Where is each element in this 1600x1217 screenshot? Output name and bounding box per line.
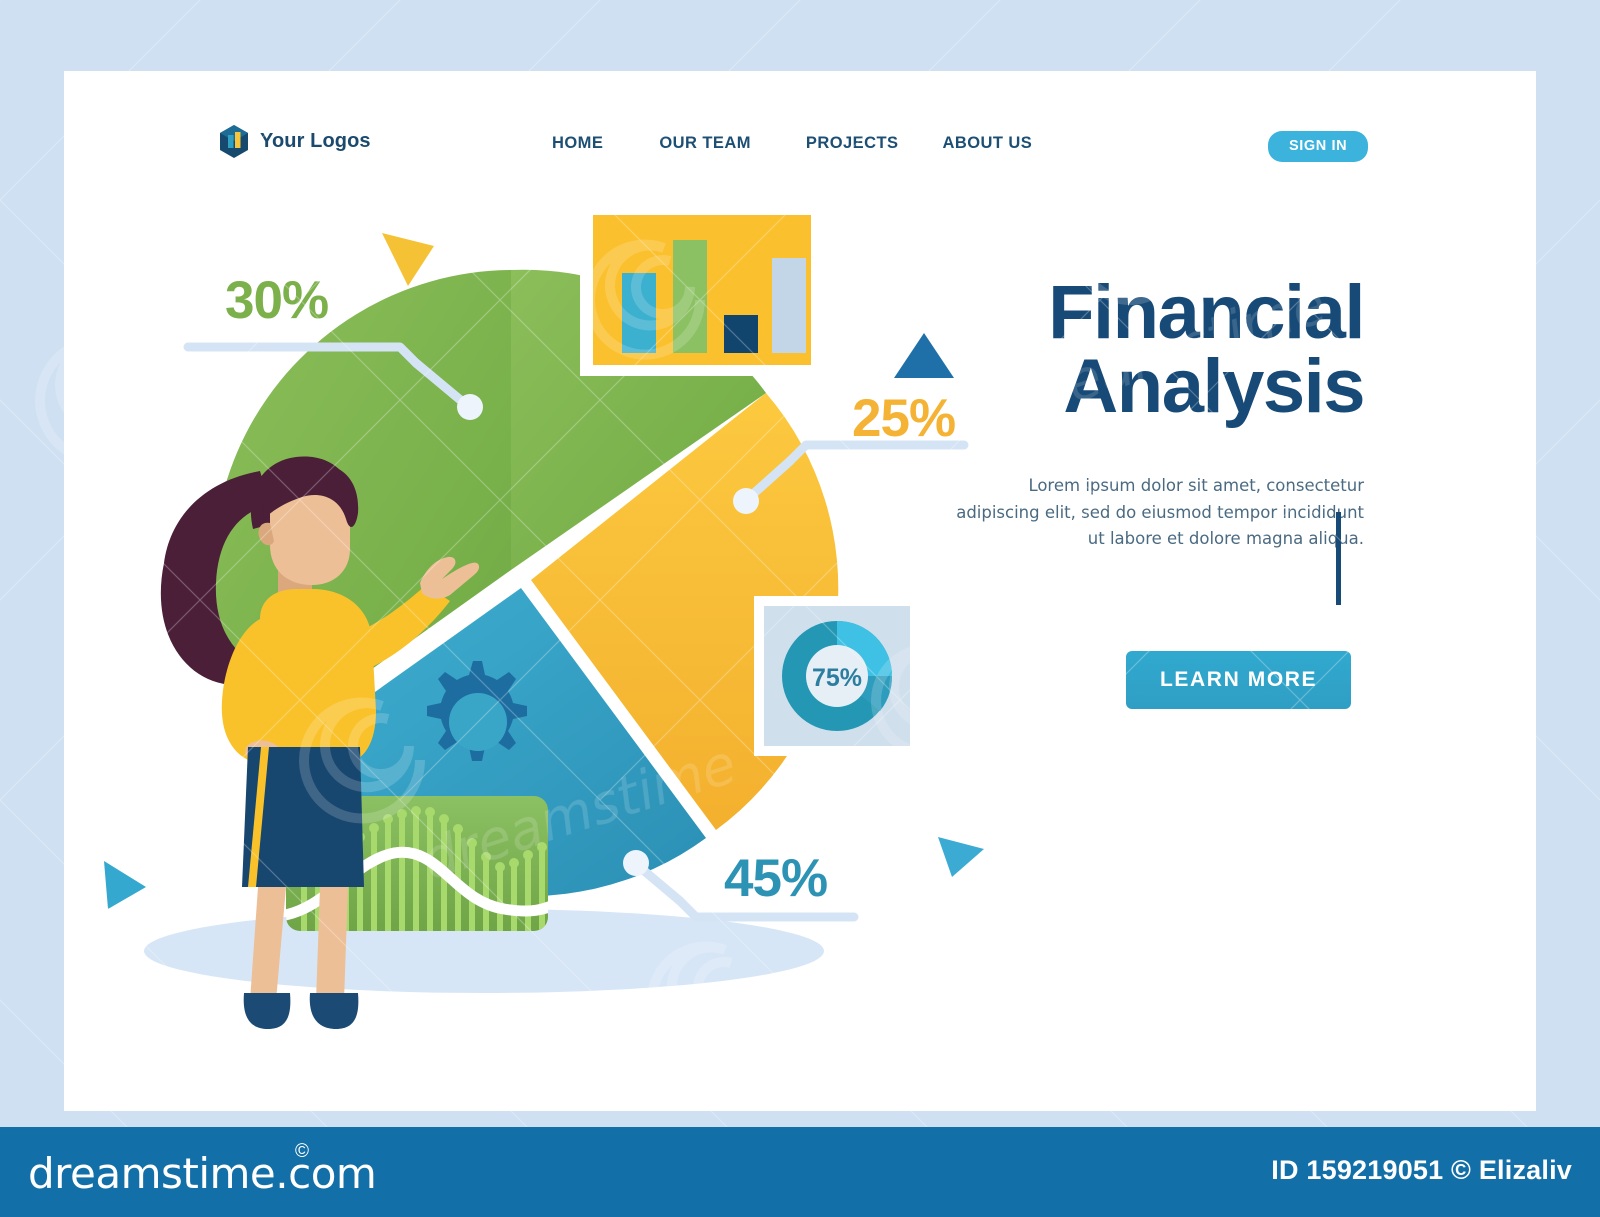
donut-center-label: 75% [812, 664, 862, 692]
leg-right [316, 887, 348, 1001]
landing-page-canvas: Your Logos HOME OUR TEAM PROJECTS ABOUT … [64, 71, 1536, 1111]
pie-label-45: 45% [724, 848, 827, 909]
callout-dot-30 [457, 394, 483, 420]
callout-dot-25 [733, 488, 759, 514]
gear-icon [427, 661, 527, 761]
bar-chart-card [580, 203, 824, 376]
dreamstime-wordmark: dreamstime.com [28, 1149, 376, 1198]
stock-credit-label: ID 159219051 © Elizaliv [1271, 1155, 1572, 1186]
teal-triangle-left-icon [104, 861, 146, 909]
hero-accent-rule [1336, 512, 1341, 605]
pie-label-25: 25% [852, 388, 955, 449]
stock-footer-bar: dreamstime.com © ID 159219051 © Elizaliv [0, 1127, 1600, 1217]
stock-photo-frame: Your Logos HOME OUR TEAM PROJECTS ABOUT … [0, 0, 1600, 1217]
illustration-artwork: 75% [64, 71, 1004, 1111]
shoe-left [244, 993, 291, 1029]
bar-4 [772, 258, 806, 353]
bar-3 [724, 315, 758, 353]
shoe-right [310, 993, 359, 1029]
sign-in-button[interactable]: SIGN IN [1268, 131, 1368, 162]
yellow-triangle-icon [382, 233, 434, 286]
hero-paragraph: Lorem ipsum dolor sit amet, consectetur … [944, 473, 1364, 553]
page-title-line-2: Analysis [1063, 344, 1364, 429]
page-title-line-1: Financial [1048, 270, 1364, 355]
bar-2 [673, 240, 707, 353]
learn-more-button[interactable]: LEARN MORE [1126, 651, 1351, 709]
hero-copy-block: Financial Analysis Lorem ipsum dolor sit… [944, 276, 1364, 553]
hero-illustration: 75% [64, 71, 1004, 1111]
donut-chart-card: 75% [754, 596, 920, 756]
page-title: Financial Analysis [944, 276, 1364, 425]
pie-label-30: 30% [225, 270, 328, 331]
blue-triangle-bottom-icon [938, 837, 984, 877]
registered-trademark-icon: © [295, 1141, 309, 1163]
bar-1 [622, 273, 656, 353]
callout-dot-45 [623, 850, 649, 876]
